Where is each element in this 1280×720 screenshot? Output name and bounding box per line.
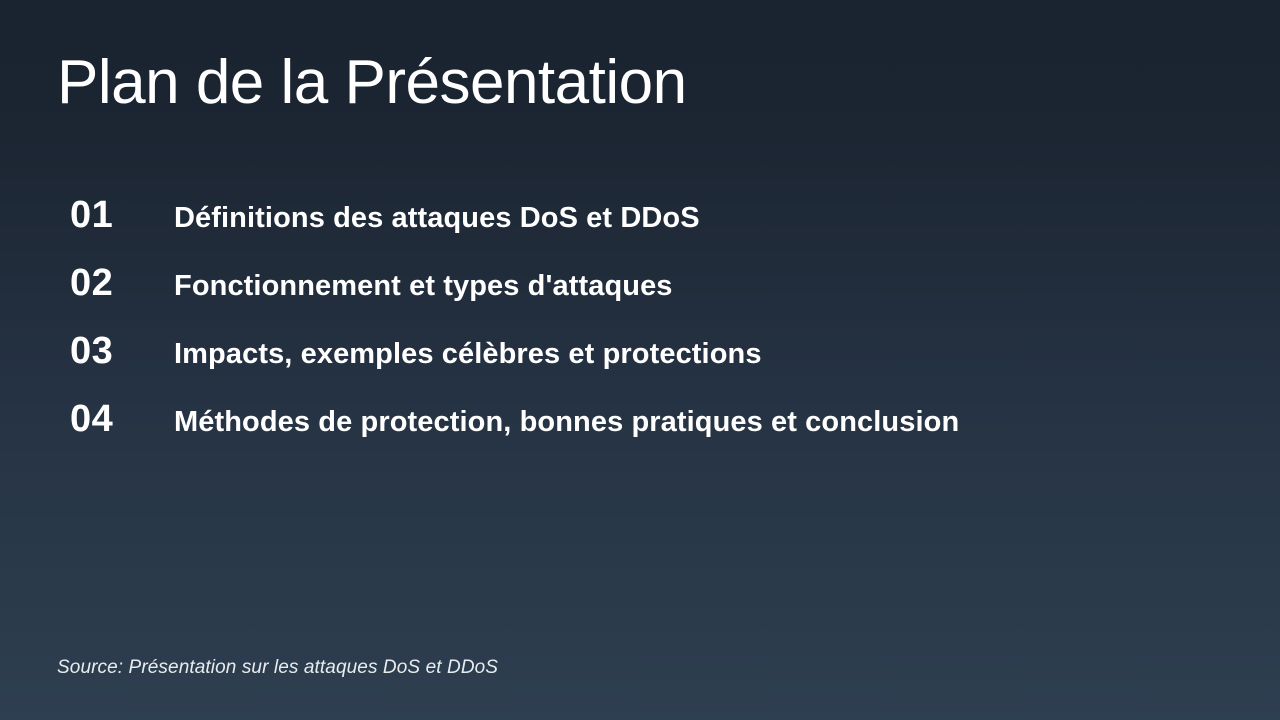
agenda-item-label: Fonctionnement et types d'attaques [174,272,1230,301]
agenda-list: 01 Définitions des attaques DoS et DDoS … [70,196,1230,468]
list-item[interactable]: 01 Définitions des attaques DoS et DDoS [70,196,1230,264]
agenda-item-number: 02 [70,264,174,302]
list-item[interactable]: 04 Méthodes de protection, bonnes pratiq… [70,400,1230,468]
list-item[interactable]: 03 Impacts, exemples célèbres et protect… [70,332,1230,400]
agenda-item-number: 01 [70,196,174,234]
presentation-slide: Plan de la Présentation 01 Définitions d… [0,0,1280,720]
page-title: Plan de la Présentation [57,52,687,114]
agenda-item-number: 03 [70,332,174,370]
list-item[interactable]: 02 Fonctionnement et types d'attaques [70,264,1230,332]
agenda-item-number: 04 [70,400,174,438]
source-caption: Source: Présentation sur les attaques Do… [57,657,498,680]
agenda-item-label: Méthodes de protection, bonnes pratiques… [174,408,1230,437]
agenda-item-label: Définitions des attaques DoS et DDoS [174,204,1230,233]
agenda-item-label: Impacts, exemples célèbres et protection… [174,340,1230,369]
